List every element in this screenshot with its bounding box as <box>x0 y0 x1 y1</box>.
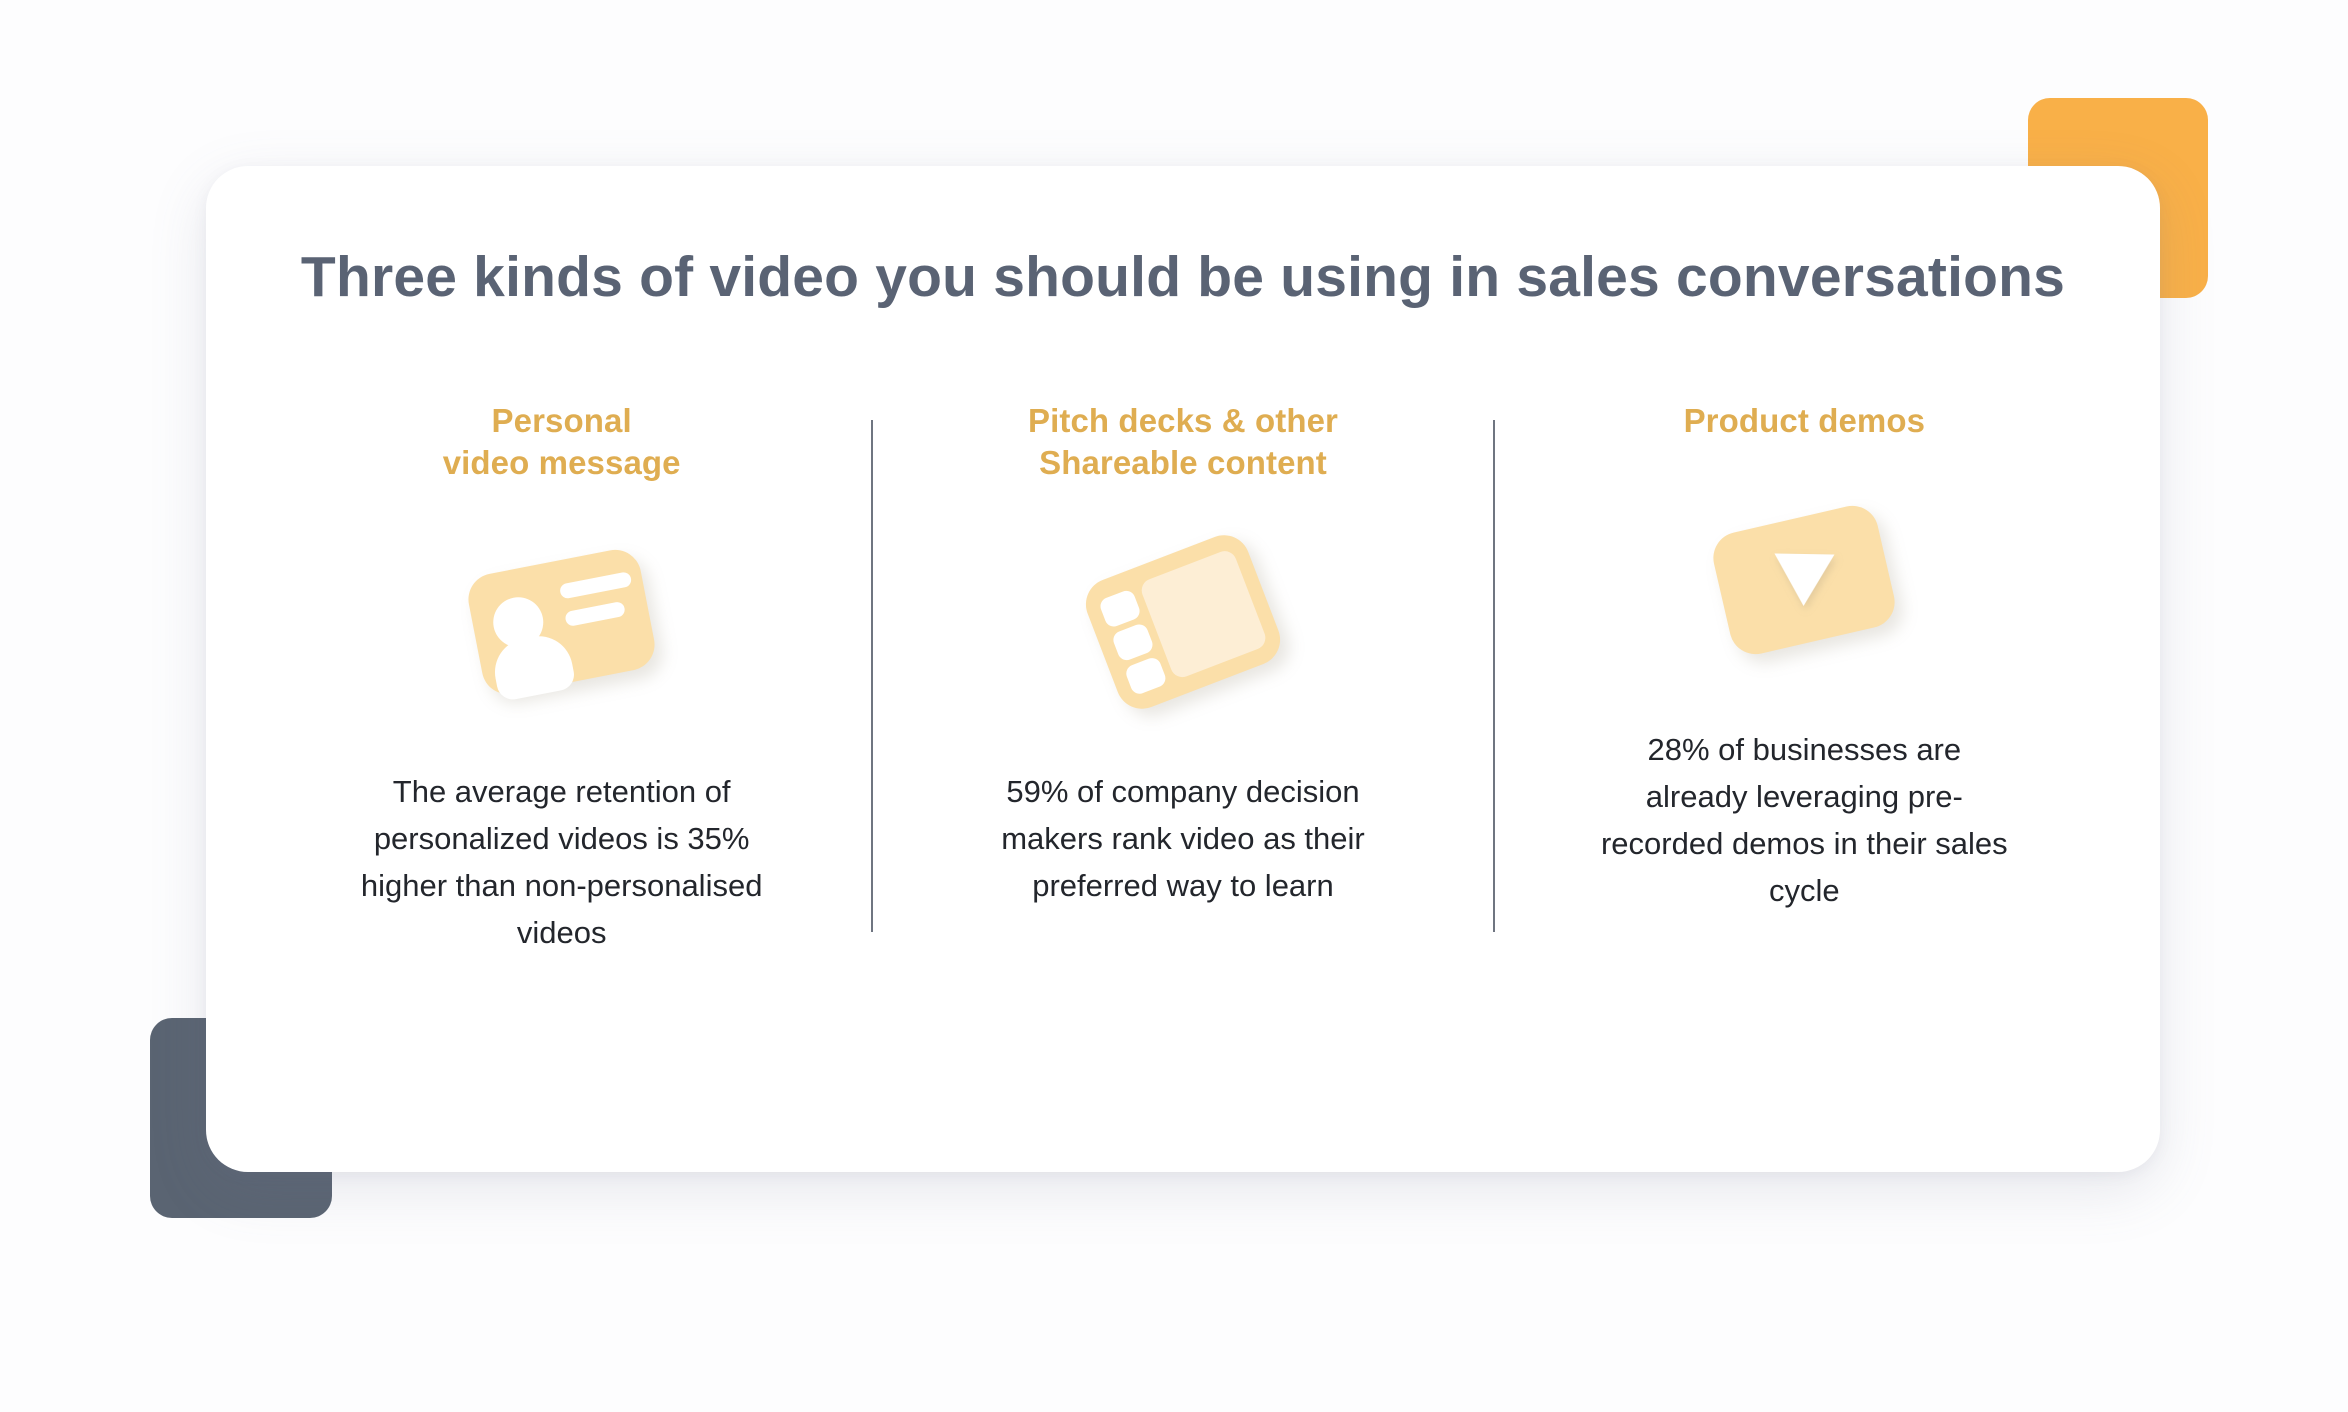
column-heading: Product demos <box>1684 400 1926 442</box>
icon-container <box>474 506 649 738</box>
column-heading: Personal video message <box>443 400 681 484</box>
icon-container <box>1720 464 1888 696</box>
page-title: Three kinds of video you should be using… <box>206 166 2160 310</box>
column-heading-line2: video message <box>443 442 681 484</box>
play-button-icon <box>1709 501 1901 660</box>
column-heading: Pitch decks & other Shareable content <box>1028 400 1338 484</box>
play-triangle-shape <box>1774 553 1835 606</box>
column-heading-line1: Personal <box>443 400 681 442</box>
column-body-text: 28% of businesses are already leveraging… <box>1594 726 2014 914</box>
slide-thumbnail-shape <box>1111 622 1155 663</box>
column-heading-line2: Shareable content <box>1028 442 1338 484</box>
personal-video-message-icon <box>464 545 659 698</box>
column-body-text: 59% of company decision makers rank vide… <box>973 768 1393 909</box>
columns-container: Personal video message The average reten… <box>206 400 2160 956</box>
column-product-demos: Product demos 28% of businesses are alre… <box>1495 400 2114 956</box>
content-card: Three kinds of video you should be using… <box>206 166 2160 1172</box>
column-pitch-decks: Pitch decks & other Shareable content 59… <box>873 400 1492 956</box>
text-line-top-shape <box>559 571 633 599</box>
column-heading-line1: Product demos <box>1684 400 1926 442</box>
infographic-stage: Three kinds of video you should be using… <box>0 0 2348 1412</box>
slide-thumbnail-shape <box>1098 588 1142 629</box>
icon-container <box>1097 506 1269 738</box>
slide-deck-icon <box>1078 528 1287 717</box>
column-body-text: The average retention of personalized vi… <box>352 768 772 956</box>
slide-thumbnail-shape <box>1124 655 1168 696</box>
text-line-bottom-shape <box>564 601 626 627</box>
column-heading-line1: Pitch decks & other <box>1028 400 1338 442</box>
column-personal-video-message: Personal video message The average reten… <box>252 400 871 956</box>
